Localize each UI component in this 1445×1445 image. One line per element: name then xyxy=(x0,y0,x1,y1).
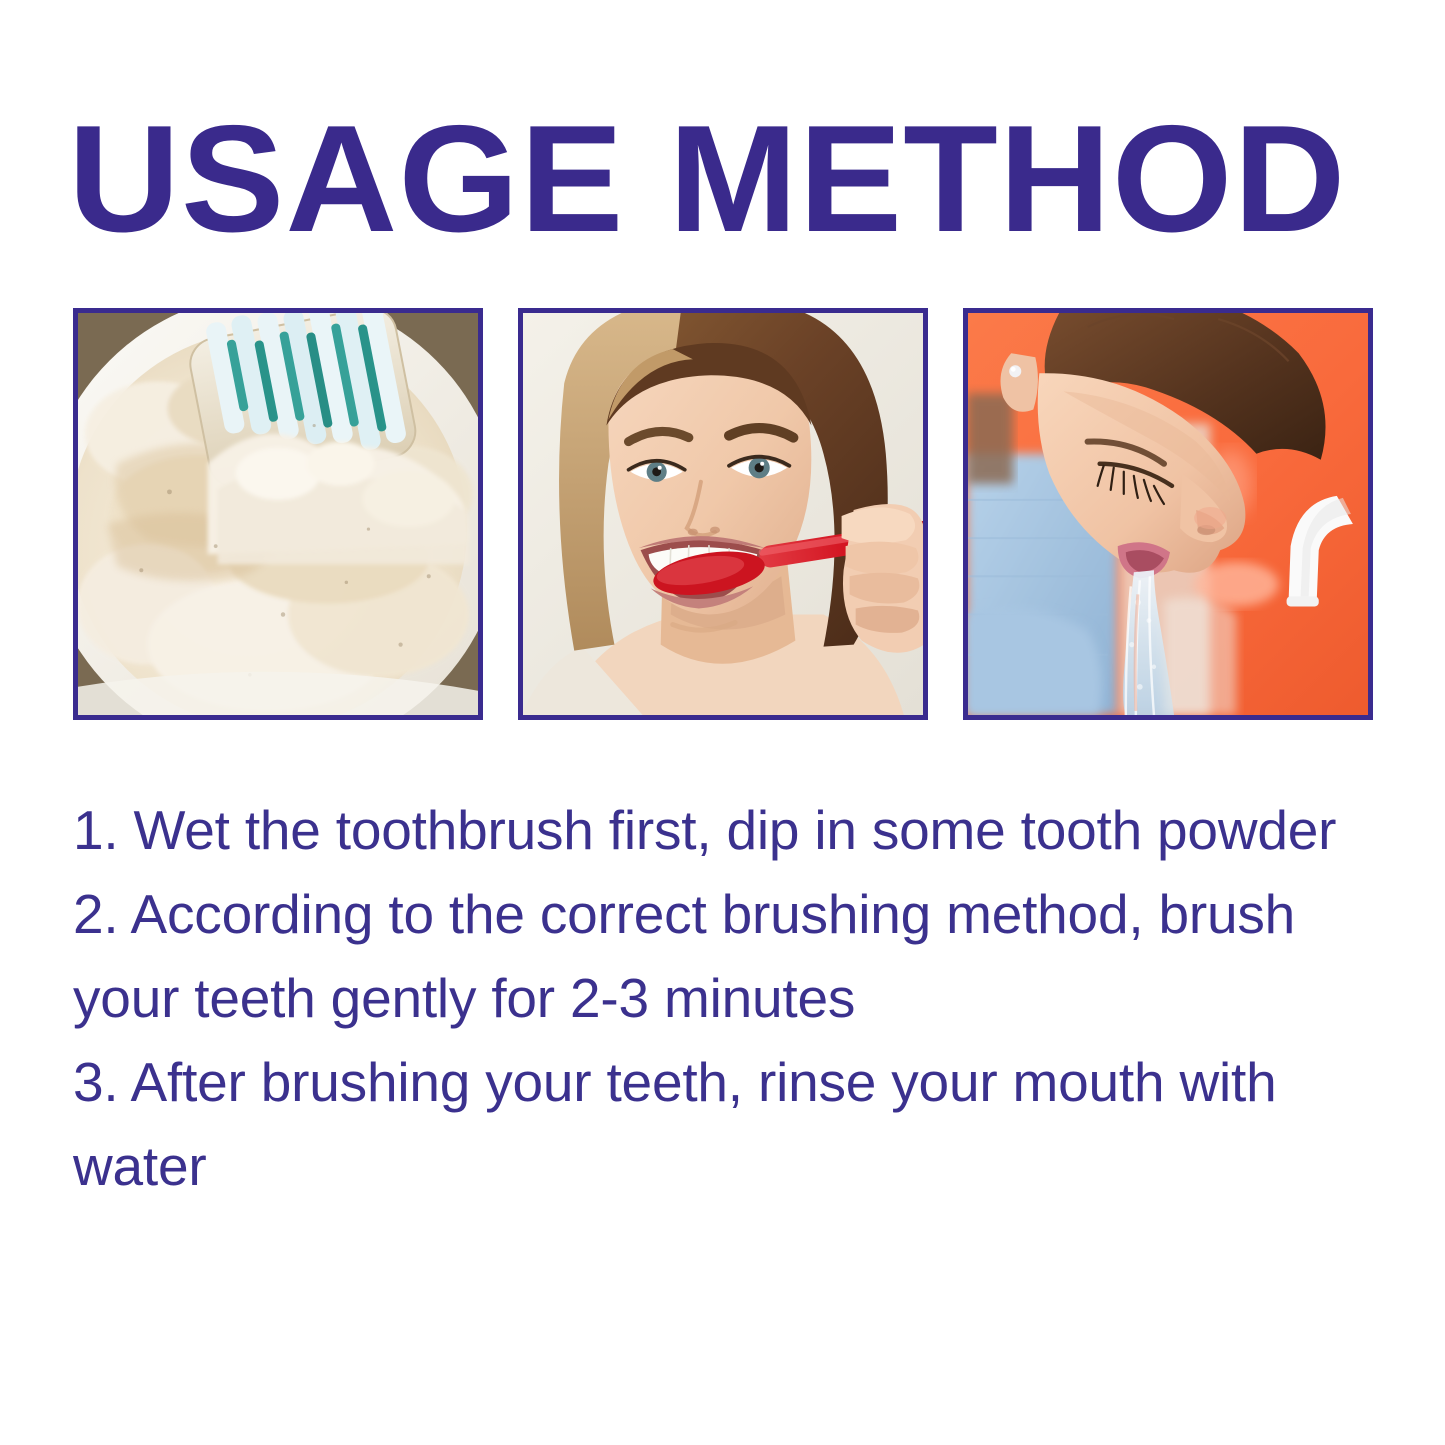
photo-rinsing xyxy=(963,308,1373,720)
photo-tooth-powder-image xyxy=(78,313,478,715)
usage-method-panel: USAGE METHOD xyxy=(0,0,1445,1445)
page-title: USAGE METHOD xyxy=(68,104,1414,254)
photo-tooth-powder xyxy=(73,308,483,720)
photo-brushing-image xyxy=(523,313,923,715)
photo-rinsing-image xyxy=(968,313,1368,715)
photo-gallery xyxy=(73,308,1373,720)
instruction-step-2: 2. According to the correct brushing met… xyxy=(73,872,1383,1040)
instructions-list: 1. Wet the toothbrush first, dip in some… xyxy=(73,788,1383,1208)
instruction-step-1: 1. Wet the toothbrush first, dip in some… xyxy=(73,788,1383,872)
tooth-powder-illustration xyxy=(78,313,478,715)
photo-brushing xyxy=(518,308,928,720)
instruction-step-3: 3. After brushing your teeth, rinse your… xyxy=(73,1040,1383,1208)
brushing-illustration xyxy=(523,313,923,715)
rinsing-illustration xyxy=(968,313,1368,715)
